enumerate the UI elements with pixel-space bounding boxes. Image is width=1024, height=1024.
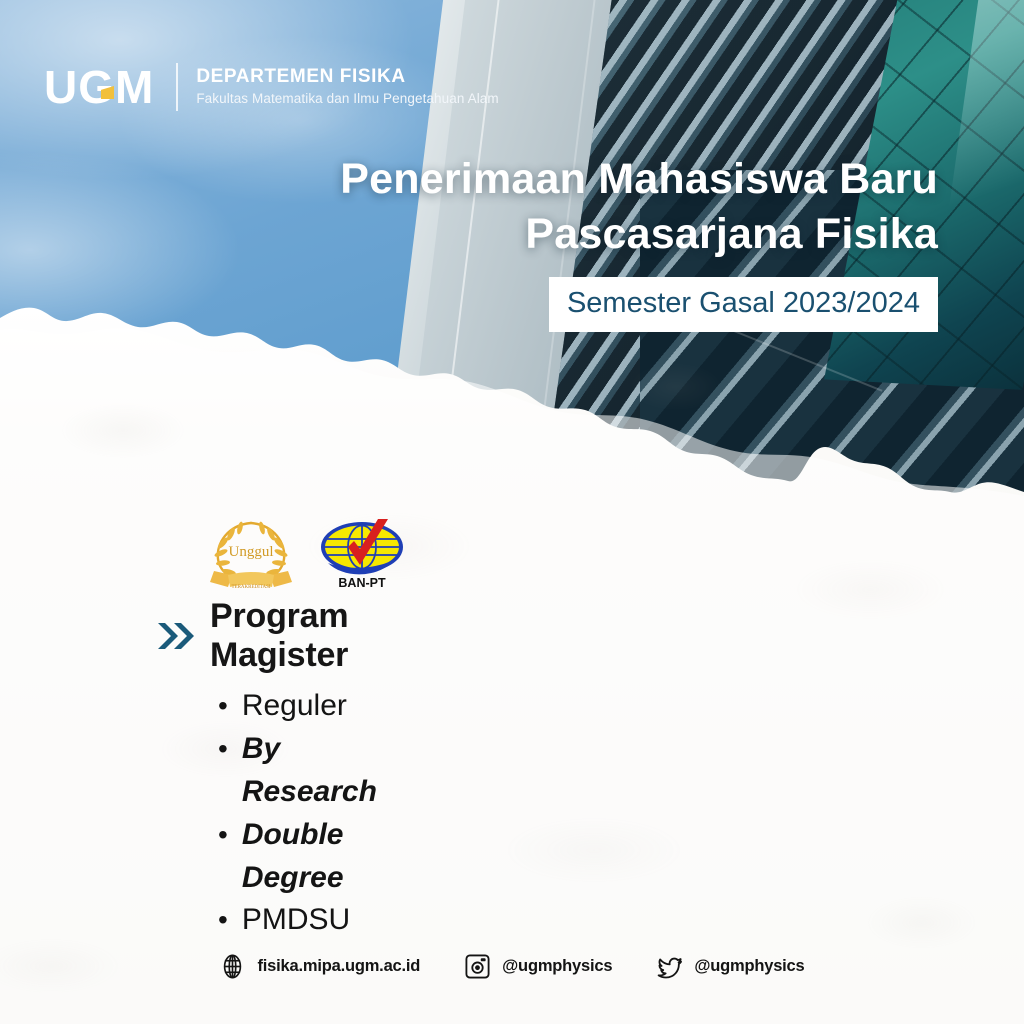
title-line-2: Pascasarjana Fisika xyxy=(340,207,938,262)
double-chevron-icon xyxy=(156,618,196,654)
contact-instagram[interactable]: @ugmphysics xyxy=(464,953,612,980)
program-heading-magister: Program Magister xyxy=(78,597,406,675)
list-item: • PMDSU xyxy=(218,899,406,942)
banpt-label: BAN-PT xyxy=(338,576,386,590)
semester-badge: Semester Gasal 2023/2024 xyxy=(549,277,938,332)
department-name: DEPARTEMEN FISIKA xyxy=(196,66,498,88)
program-column-doktor: TERAKREDITASI A BAN-PT xyxy=(406,505,1024,942)
brand-divider xyxy=(176,63,178,111)
bullet-marker: • xyxy=(218,821,228,849)
contact-website[interactable]: fisika.mipa.ugm.ac.id xyxy=(219,953,420,980)
list-item: • By Research xyxy=(218,728,406,814)
program-title: Program Magister xyxy=(210,597,406,675)
programs-section: TERAKREDITASI Unggul BAN-PT xyxy=(0,505,1024,942)
accreditation-ribbon-label: TERAKREDITASI xyxy=(231,585,270,590)
program-item-label: Reguler xyxy=(242,685,347,728)
accreditation-grade-label: Unggul xyxy=(229,544,274,560)
list-item: • Reguler xyxy=(218,685,406,728)
page-title: Penerimaan Mahasiswa Baru Pascasarjana F… xyxy=(340,152,938,262)
globe-icon xyxy=(219,953,246,980)
twitter-handle: @ugmphysics xyxy=(694,957,804,976)
program-items-magister: • Reguler • By Research • Double Degree … xyxy=(78,685,406,942)
list-item: • Double Degree xyxy=(218,814,406,900)
title-line-1: Penerimaan Mahasiswa Baru xyxy=(340,152,938,207)
bullet-marker: • xyxy=(218,906,228,934)
instagram-icon xyxy=(464,953,491,980)
program-column-magister: TERAKREDITASI Unggul BAN-PT xyxy=(0,505,406,942)
contact-twitter[interactable]: @ugmphysics xyxy=(656,953,804,980)
program-items-doktor: • Reguler • By Research • PMDSU xyxy=(406,685,1024,857)
twitter-icon xyxy=(656,953,683,980)
poster-root: UGM DEPARTEMEN FISIKA Fakultas Matematik… xyxy=(0,0,1024,1024)
banpt-logo-icon: BAN-PT xyxy=(318,517,406,591)
website-label: fisika.mipa.ugm.ac.id xyxy=(257,957,420,976)
ugm-acronym-text: UGM xyxy=(44,61,154,113)
accreditation-grade-badge-icon: TERAKREDITASI Unggul xyxy=(206,513,296,591)
bullet-marker: • xyxy=(218,735,228,763)
brand-logo: UGM DEPARTEMEN FISIKA Fakultas Matematik… xyxy=(44,63,499,111)
faculty-name: Fakultas Matematika dan Ilmu Pengetahuan… xyxy=(196,91,498,108)
program-heading-doktor: Program Doktor xyxy=(406,597,1024,675)
instagram-handle: @ugmphysics xyxy=(502,957,612,976)
program-item-label: PMDSU xyxy=(242,899,350,942)
footer-contacts: fisika.mipa.ugm.ac.id @ugmphysics @ugmph… xyxy=(0,953,1024,980)
bullet-marker: • xyxy=(218,692,228,720)
ugm-wordmark: UGM xyxy=(44,64,176,110)
program-item-label: By Research xyxy=(242,728,406,814)
brand-text-block: DEPARTEMEN FISIKA Fakultas Matematika da… xyxy=(196,66,498,108)
program-item-label: Double Degree xyxy=(242,814,406,900)
accreditation-badges: TERAKREDITASI Unggul BAN-PT xyxy=(78,505,406,591)
accreditation-badges: TERAKREDITASI A BAN-PT xyxy=(406,505,1024,591)
